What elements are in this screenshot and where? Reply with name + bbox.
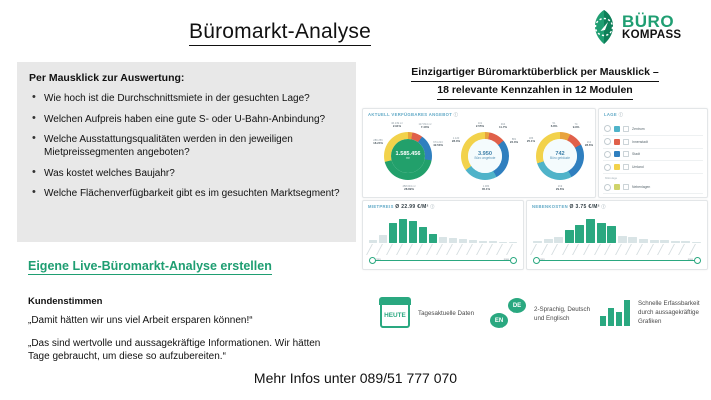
slider-min-label: min <box>376 257 381 261</box>
bubble-de-label: DE <box>508 298 526 313</box>
page-title: Büromarkt-Analyse <box>0 20 560 44</box>
list-item[interactable]: Stadt <box>603 149 703 162</box>
donut-center-value: 742 Büro gebäude <box>543 139 577 173</box>
card-mietpreis: Mietpreis Ø 22.99 €/m² ⓘ min max <box>362 200 524 270</box>
bar[interactable] <box>692 242 701 244</box>
list-item[interactable]: Nebenlagen <box>603 181 703 194</box>
slide-root: Büromarkt-Analyse BÜRO KOMPASS Per Mausk… <box>0 0 711 400</box>
bar-chart-icon <box>600 298 630 326</box>
bar[interactable] <box>369 240 377 243</box>
bar-chart-nebenkosten <box>533 217 701 243</box>
right-headline-line2: 18 relevante Kennzahlen in 12 Modulen <box>437 82 632 100</box>
color-swatch <box>614 151 620 157</box>
color-swatch <box>614 184 620 190</box>
card-title: Mietpreis <box>368 204 394 209</box>
eye-icon[interactable] <box>604 151 611 158</box>
lage-item-label: Innenstadt <box>632 140 648 144</box>
slider-knob-max[interactable] <box>510 257 517 264</box>
bar[interactable] <box>565 230 574 243</box>
list-item[interactable]: Zentrum <box>603 123 703 136</box>
feature-label: Tagesaktuelle Daten <box>418 309 480 318</box>
list-item: Was kostet welches Baujahr? <box>29 167 344 180</box>
checkbox[interactable] <box>623 184 629 190</box>
donut-chart-flaeche: 1.585.456 m² 46.139 m²2.91% 117.814 m²7.… <box>371 123 445 197</box>
lage-filter-list: Zentrum Innenstadt Stadt <box>603 123 703 194</box>
lage-item-label: Zentrum <box>632 127 645 131</box>
bar[interactable] <box>671 241 680 243</box>
bar[interactable] <box>459 239 467 243</box>
bar[interactable] <box>650 240 659 243</box>
card-lage: Lage ⓘ Zentrum Innenstadt <box>598 108 708 198</box>
list-item: Welche Flächenverfügbarkeit gibt es im g… <box>29 187 344 200</box>
card-value: Ø 3.75 €/m² <box>569 204 599 210</box>
questions-panel: Per Mausklick zur Auswertung: Wie hoch i… <box>17 62 356 242</box>
donut-label: 516.8% <box>545 122 563 129</box>
card-header: Mietpreis Ø 22.99 €/m² ⓘ <box>363 201 523 212</box>
bar[interactable] <box>379 235 387 243</box>
info-icon[interactable]: ⓘ <box>601 204 606 209</box>
footer-contact: Mehr Infos unter 089/51 777 070 <box>0 370 711 386</box>
bar[interactable] <box>586 219 595 243</box>
bar[interactable] <box>469 240 477 243</box>
checkbox[interactable] <box>623 139 629 145</box>
lage-item-label: Nebenlagen <box>632 185 650 189</box>
slider-track[interactable] <box>372 260 514 261</box>
slider-knob-min[interactable] <box>369 257 376 264</box>
card-title: Nebenkosten <box>532 204 568 209</box>
calendar-icon: HEUTE <box>380 298 410 328</box>
bar[interactable] <box>544 239 553 243</box>
checkbox[interactable] <box>623 164 629 170</box>
card-value: Ø 22.99 €/m² <box>395 204 428 210</box>
bar[interactable] <box>628 237 637 243</box>
bar[interactable] <box>575 225 584 243</box>
range-slider-mietpreis[interactable]: min max <box>369 256 517 264</box>
lage-sub-label: Mikrolage <box>603 174 703 181</box>
card-nebenkosten: Nebenkosten Ø 3.75 €/m² ⓘ min max <box>526 200 708 270</box>
donut-chart-row: 1.585.456 m² 46.139 m²2.91% 117.814 m²7.… <box>363 123 595 197</box>
testimonial-quote: „Das sind wertvolle und aussagekräftige … <box>28 337 334 363</box>
create-analysis-link[interactable]: Eigene Live-Büromarkt-Analyse erstellen <box>28 259 272 275</box>
bar[interactable] <box>419 227 427 243</box>
bar[interactable] <box>554 237 563 243</box>
card-aktuell-verfuegbares-angebot: Aktuell verfügbares Angebot ⓘ 1.585.456 … <box>362 108 596 198</box>
card-header: Nebenkosten Ø 3.75 €/m² ⓘ <box>527 201 707 212</box>
card-header: Aktuell verfügbares Angebot ⓘ <box>363 109 595 120</box>
slider-max-label: max <box>688 257 693 261</box>
bar[interactable] <box>660 240 669 243</box>
lage-item-label: Stadt <box>632 152 640 156</box>
eye-icon[interactable] <box>604 184 611 191</box>
testimonial-quote: „Damit hätten wir uns viel Arbeit erspar… <box>28 314 338 327</box>
bubble-en-label: EN <box>490 313 508 328</box>
donut-label: 18625.1% <box>521 137 541 144</box>
donut-label: 21228.6% <box>579 141 599 148</box>
info-icon[interactable]: ⓘ <box>454 112 459 117</box>
donut-label: 749.9% <box>567 123 585 130</box>
checkbox[interactable] <box>623 151 629 157</box>
card-title: Aktuell verfügbares Angebot <box>368 112 452 117</box>
donut-label: 458.034 m²28.89% <box>393 185 425 192</box>
bar[interactable] <box>429 234 437 243</box>
bar[interactable] <box>639 239 648 243</box>
range-slider-nebenkosten[interactable]: min max <box>533 256 701 264</box>
donut-label: 21929.6% <box>549 185 571 192</box>
testimonials-heading: Kundenstimmen <box>28 296 102 307</box>
right-headline: Einzigartiger Büromarktüberblick per Mau… <box>366 64 704 100</box>
donut-center-value: 1.585.456 m² <box>391 139 425 173</box>
bar[interactable] <box>449 238 457 243</box>
compass-leaf-logo-icon <box>589 9 619 45</box>
bar[interactable] <box>389 223 397 243</box>
bar[interactable] <box>399 219 407 243</box>
bar[interactable] <box>509 242 517 244</box>
color-swatch <box>614 164 620 170</box>
eye-icon[interactable] <box>604 164 611 171</box>
info-icon[interactable]: ⓘ <box>619 112 624 117</box>
logo-brand-top: BÜRO <box>622 13 681 30</box>
color-swatch <box>614 139 620 145</box>
lage-item-label: Umland <box>632 165 644 169</box>
slider-max-label: max <box>504 257 509 261</box>
donut-label: 46.139 m²2.91% <box>383 122 411 129</box>
list-item[interactable]: Innenstadt <box>603 136 703 149</box>
donut-label: 1.38435.1% <box>474 185 498 192</box>
donut-label: 1.12028.3% <box>446 137 466 144</box>
bar[interactable] <box>533 241 542 243</box>
list-item[interactable]: Umland <box>603 161 703 174</box>
color-swatch <box>614 126 620 132</box>
donut-label: 117.814 m²7.43% <box>411 123 439 130</box>
info-icon[interactable]: ⓘ <box>430 204 435 209</box>
bar[interactable] <box>499 242 507 244</box>
eye-icon[interactable] <box>604 125 611 132</box>
feature-label: 2-Sprachig, Deutsch und Englisch <box>534 305 596 323</box>
donut-chart-bueroangebote: 3.950 Büro angebote 1012.55% 46411.7% 1.… <box>448 123 522 197</box>
feature-zweisprachig: DE EN 2-Sprachig, Deutsch und Englisch <box>490 298 596 330</box>
calendar-icon-label: HEUTE <box>382 312 408 319</box>
feature-grafiken: Schnelle Erfassbarkeit durch aussagekräf… <box>600 298 700 326</box>
donut-label: 1012.55% <box>470 122 490 129</box>
donut-chart-bueroguebaeude: 742 Büro gebäude 516.8% 749.9% 18625.1% … <box>523 123 597 197</box>
list-item: Wie hoch ist die Durchschnittsmiete in d… <box>29 92 344 105</box>
x-axis-ticks <box>533 244 701 256</box>
eye-icon[interactable] <box>604 138 611 145</box>
bar-chart-mietpreis <box>369 217 517 243</box>
page-title-text: Büromarkt-Analyse <box>189 20 371 46</box>
speech-bubbles-icon: DE EN <box>490 298 526 330</box>
slider-knob-max[interactable] <box>694 257 701 264</box>
donut-label: 46411.7% <box>493 123 513 130</box>
donut-center-value: 3.950 Büro angebote <box>468 139 502 173</box>
card-header: Lage ⓘ <box>599 109 707 120</box>
list-item: Welchen Aufpreis haben eine gute S- oder… <box>29 113 344 126</box>
slider-track[interactable] <box>536 260 698 261</box>
bar[interactable] <box>618 236 627 243</box>
card-title: Lage <box>604 112 617 117</box>
bar[interactable] <box>479 241 487 243</box>
bar[interactable] <box>597 223 606 243</box>
x-axis-ticks <box>369 244 517 256</box>
feature-label: Schnelle Erfassbarkeit durch aussagekräf… <box>638 299 700 326</box>
logo-brand-bottom: KOMPASS <box>622 30 681 42</box>
bar[interactable] <box>681 241 690 243</box>
donut-label: 289.25618.24% <box>367 139 389 146</box>
questions-list: Wie hoch ist die Durchschnittsmiete in d… <box>29 92 344 200</box>
questions-heading: Per Mausklick zur Auswertung: <box>29 72 344 84</box>
bar[interactable] <box>489 241 497 243</box>
bar[interactable] <box>439 237 447 243</box>
slider-min-label: min <box>540 257 545 261</box>
bar[interactable] <box>409 221 417 243</box>
brand-logo: BÜRO KOMPASS <box>589 6 701 48</box>
feature-tagesaktuelle-daten: HEUTE Tagesaktuelle Daten <box>380 298 480 328</box>
bar[interactable] <box>607 226 616 243</box>
checkbox[interactable] <box>623 126 629 132</box>
slider-knob-min[interactable] <box>533 257 540 264</box>
right-headline-line1: Einzigartiger Büromarktüberblick per Mau… <box>411 64 658 82</box>
dashboard-preview: Aktuell verfügbares Angebot ⓘ 1.585.456 … <box>362 108 706 288</box>
list-item: Welche Ausstattungsqualitäten werden in … <box>29 133 344 159</box>
